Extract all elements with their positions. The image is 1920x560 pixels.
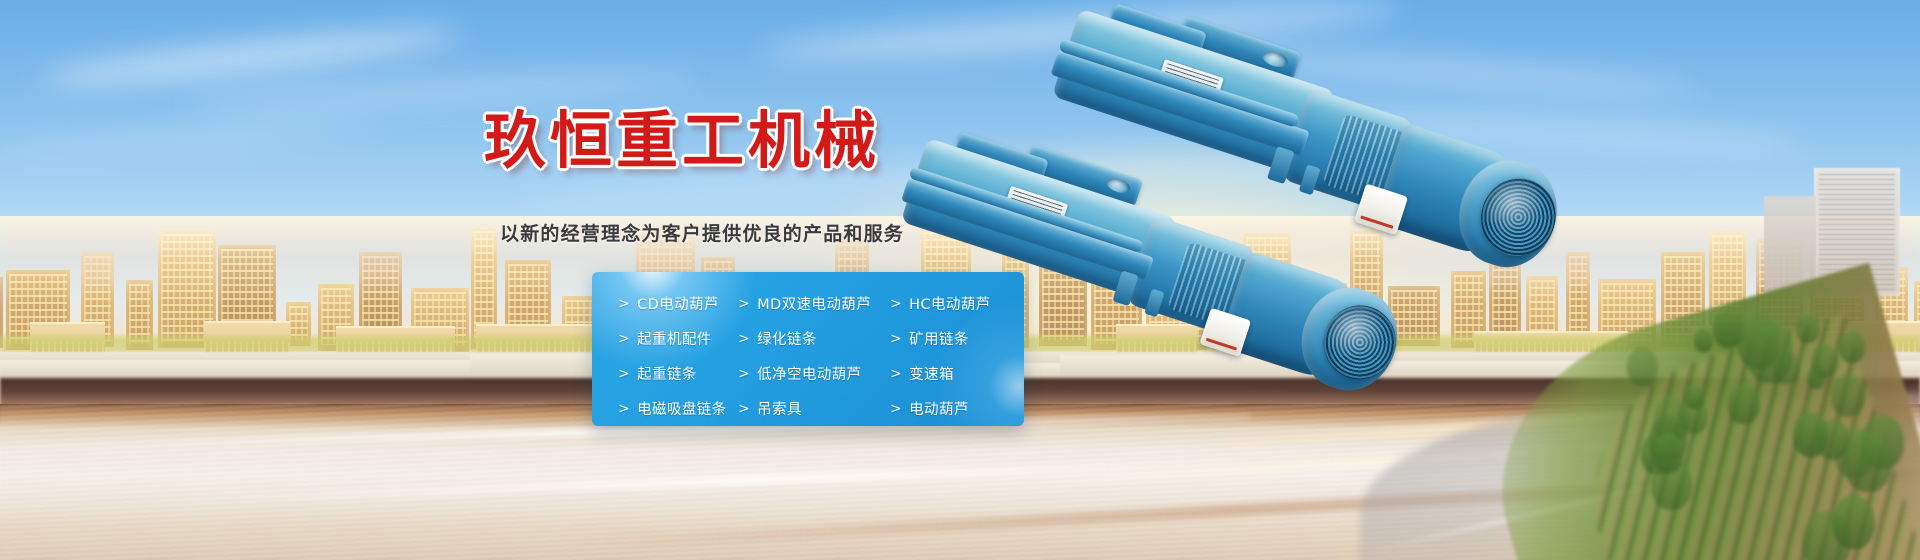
chevron-right-icon: >: [890, 366, 902, 382]
chevron-right-icon: >: [618, 401, 630, 417]
hillside-tree: [1727, 384, 1760, 425]
product-link-8[interactable]: >低净空电动葫芦: [738, 363, 890, 384]
chevron-right-icon: >: [738, 296, 750, 312]
cloud-wisp: [0, 113, 380, 162]
product-link-1[interactable]: >CD电动葫芦: [592, 293, 738, 314]
chevron-right-icon: >: [738, 401, 750, 417]
product-link-label: 起重链条: [637, 363, 697, 384]
chevron-right-icon: >: [618, 296, 630, 312]
hillside-tree: [1844, 432, 1892, 492]
product-link-12[interactable]: >电动葫芦: [890, 398, 1024, 419]
chevron-right-icon: >: [618, 331, 630, 347]
chevron-right-icon: >: [738, 366, 750, 382]
hero-banner: 玖恒重工机械 以新的经营理念为客户提供优良的产品和服务 >CD电动葫芦>MD双速…: [0, 0, 1920, 560]
product-link-10[interactable]: >电磁吸盘链条: [592, 398, 738, 419]
chevron-right-icon: >: [618, 366, 630, 382]
product-link-4[interactable]: >起重机配件: [592, 328, 738, 349]
hillside-tree: [1832, 495, 1875, 549]
hillside-tree: [1652, 433, 1684, 473]
product-link-label: MD双速电动葫芦: [757, 293, 871, 314]
page-title: 玖恒重工机械: [484, 110, 880, 172]
hillside-tree: [1746, 323, 1794, 383]
page-subtitle: 以新的经营理念为客户提供优良的产品和服务: [500, 219, 904, 246]
cloud-wisp: [40, 22, 460, 92]
product-links-row: >电磁吸盘链条>吊索具>电动葫芦: [592, 391, 1024, 426]
hillside-tree: [1796, 314, 1819, 343]
product-link-label: 电动葫芦: [909, 398, 969, 419]
hillside-tree: [1793, 412, 1828, 456]
product-link-label: 绿化链条: [757, 328, 817, 349]
hillside-tree: [1627, 347, 1658, 386]
product-link-11[interactable]: >吊索具: [738, 398, 890, 419]
hillside-tree: [1831, 374, 1865, 417]
product-link-label: 吊索具: [757, 398, 802, 419]
chevron-right-icon: >: [738, 331, 750, 347]
product-link-7[interactable]: >起重链条: [592, 363, 738, 384]
product-link-label: 低净空电动葫芦: [757, 363, 861, 384]
chevron-right-icon: >: [890, 401, 902, 417]
product-link-label: 起重机配件: [637, 328, 712, 349]
hillside-tree: [1839, 331, 1864, 363]
hillside-tree: [1694, 329, 1712, 352]
product-link-label: CD电动葫芦: [637, 293, 719, 314]
hillside-tree: [1685, 385, 1704, 408]
hillside-tree: [1811, 344, 1839, 379]
product-link-label: 电磁吸盘链条: [637, 398, 726, 419]
